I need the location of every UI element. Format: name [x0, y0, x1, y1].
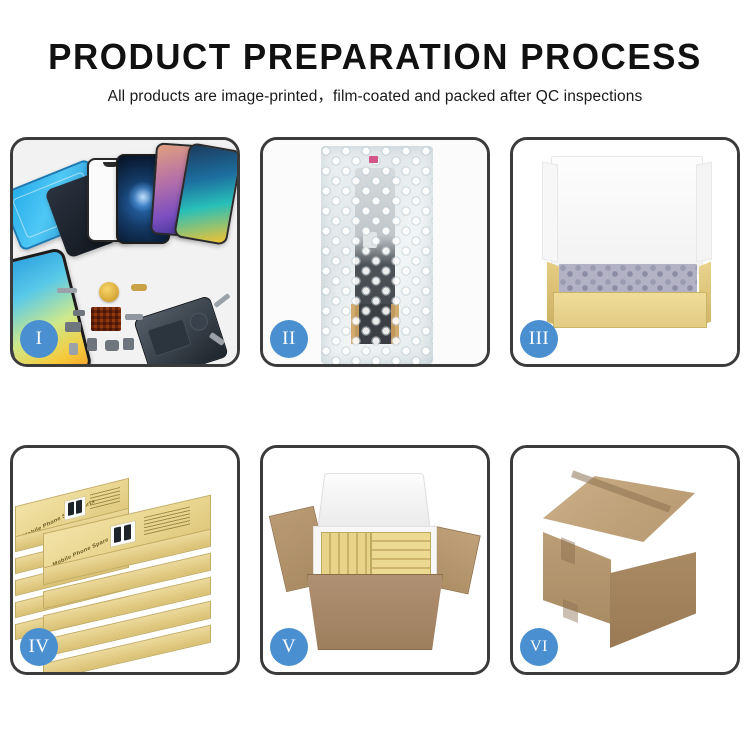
step-panel-3: III	[510, 137, 740, 367]
box-open-lid	[551, 156, 703, 274]
scene-stacked-retail-boxes: Mobile Phone Spare Parts Mobil	[13, 448, 237, 672]
gold-boxes-group-right	[371, 532, 431, 576]
step-badge-4: IV	[20, 628, 58, 666]
box-label-image	[64, 496, 86, 521]
step-panel-5: V	[260, 445, 490, 675]
scene-foam-box-packing: III	[513, 140, 737, 364]
gold-boxes-group-left	[321, 532, 371, 576]
gold-coil-part-icon	[99, 282, 119, 302]
page-subtitle: All products are image-printed，film-coat…	[0, 84, 750, 106]
box-label-lines	[90, 487, 120, 511]
carton-right-face	[610, 552, 696, 648]
step-badge-2: II	[270, 320, 308, 358]
scene-products-and-parts: I	[13, 140, 237, 364]
small-part-icon	[87, 338, 97, 351]
small-part-icon	[131, 284, 147, 291]
step-badge-3: III	[520, 320, 558, 358]
pink-label-sticker	[369, 156, 378, 163]
carton-top-face	[543, 476, 695, 542]
screw-grid-part-icon	[91, 307, 121, 331]
step-panel-6: VI	[510, 445, 740, 675]
step-panel-1: I	[10, 137, 240, 367]
step-panel-2: II	[260, 137, 490, 367]
label-screen-icon	[114, 526, 121, 543]
small-part-icon	[65, 322, 81, 332]
bubble-wrap-bag	[321, 146, 433, 364]
box-front-panel	[553, 292, 707, 328]
scene-carton-loading: V	[263, 448, 487, 672]
scene-sealed-carton: VI	[513, 448, 737, 672]
product-preparation-infographic: PRODUCT PREPARATION PROCESS All products…	[0, 0, 750, 750]
step-badge-1: I	[20, 320, 58, 358]
step-badge-5: V	[270, 628, 308, 666]
foam-lid	[317, 473, 431, 531]
small-part-icon	[73, 310, 85, 316]
box-label-lines	[144, 506, 190, 537]
label-screen-icon	[68, 502, 74, 516]
small-part-icon	[105, 340, 119, 351]
small-part-icon	[57, 288, 77, 293]
bubble-texture	[321, 146, 433, 364]
page-title: PRODUCT PREPARATION PROCESS	[11, 36, 739, 78]
steps-grid: I II III	[0, 133, 750, 693]
carton-body	[307, 574, 443, 650]
small-part-icon	[125, 314, 143, 320]
small-part-icon	[123, 338, 134, 350]
box-label-image	[110, 520, 136, 548]
small-part-icon	[69, 343, 78, 355]
label-screen-icon	[76, 500, 82, 514]
header: PRODUCT PREPARATION PROCESS All products…	[0, 0, 750, 120]
label-screen-icon	[124, 524, 131, 541]
step-panel-4: Mobile Phone Spare Parts Mobil	[10, 445, 240, 675]
step-badge-6: VI	[520, 628, 558, 666]
scene-bubble-wrap-packing: II	[263, 140, 487, 364]
small-part-icon	[213, 293, 230, 308]
